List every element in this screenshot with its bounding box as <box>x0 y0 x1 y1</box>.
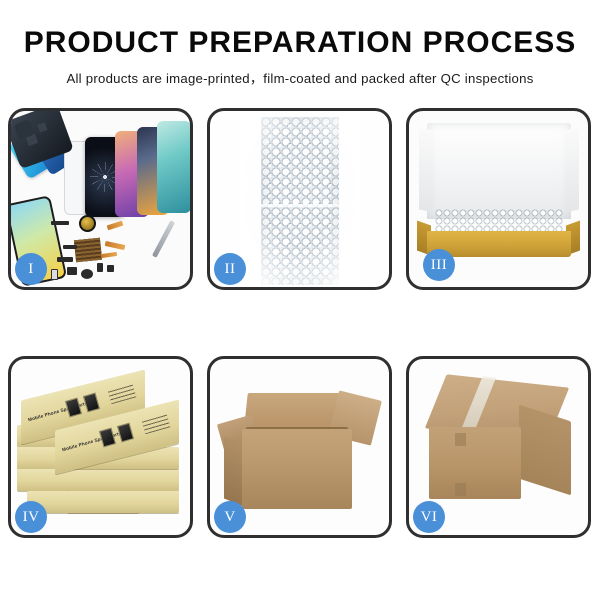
process-steps-grid: I II III <box>8 108 592 538</box>
step-badge-3: III <box>423 249 455 281</box>
process-step-card-1: I <box>8 108 193 290</box>
step-numeral-2: II <box>225 261 236 278</box>
process-step-card-2: II <box>207 108 392 290</box>
flex-cable-3-icon <box>101 252 117 258</box>
tweezers-icon <box>152 220 175 258</box>
highlight-overlay <box>240 111 360 287</box>
screw-tray-icon <box>74 238 102 263</box>
page-title: PRODUCT PREPARATION PROCESS <box>0 27 600 59</box>
flex-cable-2-icon <box>105 241 126 250</box>
process-step-card-6: VI <box>406 356 591 538</box>
page-header: PRODUCT PREPARATION PROCESS All products… <box>0 0 600 87</box>
page-subtitle: All products are image-printed，film-coat… <box>0 68 600 87</box>
step-numeral-5: V <box>224 509 235 526</box>
step-badge-4: IV <box>15 501 47 533</box>
part-chip-icon <box>57 257 73 262</box>
part-small-icon <box>97 263 103 272</box>
step-badge-1: I <box>15 253 47 285</box>
process-step-card-5: V <box>207 356 392 538</box>
part-connector-icon <box>51 269 58 280</box>
carton-seam-icon <box>455 483 466 496</box>
part-bar-icon <box>51 221 69 225</box>
step-numeral-6: VI <box>421 509 438 526</box>
speaker-coil-icon <box>79 215 96 232</box>
step-badge-6: VI <box>413 501 445 533</box>
phone-teal-icon <box>157 121 190 213</box>
stacked-box <box>67 469 179 491</box>
process-step-card-4: Mobile Phone Spare Parts Mobile Phone Sp… <box>8 356 193 538</box>
step-numeral-1: I <box>28 261 34 278</box>
flex-cable-1-icon <box>107 221 124 231</box>
step-badge-2: II <box>214 253 246 285</box>
step-numeral-3: III <box>431 257 448 274</box>
box-stack-icon: Mobile Phone Spare Parts Mobile Phone Sp… <box>17 373 189 525</box>
product-preparation-process-page: PRODUCT PREPARATION PROCESS All products… <box>0 0 600 600</box>
process-step-card-3: III <box>406 108 591 290</box>
part-sim-tray-icon <box>107 265 114 272</box>
inner-box-lid-icon <box>427 123 571 219</box>
carton-back-flap-icon <box>244 393 344 427</box>
sealed-carton-front-icon <box>429 427 521 499</box>
sealed-carton-side-icon <box>519 405 571 496</box>
part-bracket-icon <box>63 245 77 249</box>
step-numeral-4: IV <box>23 509 40 526</box>
carton-body-icon <box>242 429 352 509</box>
step-badge-5: V <box>214 501 246 533</box>
carton-seam-icon <box>455 433 466 446</box>
part-button-icon <box>67 267 77 275</box>
part-camera-icon <box>81 269 93 279</box>
